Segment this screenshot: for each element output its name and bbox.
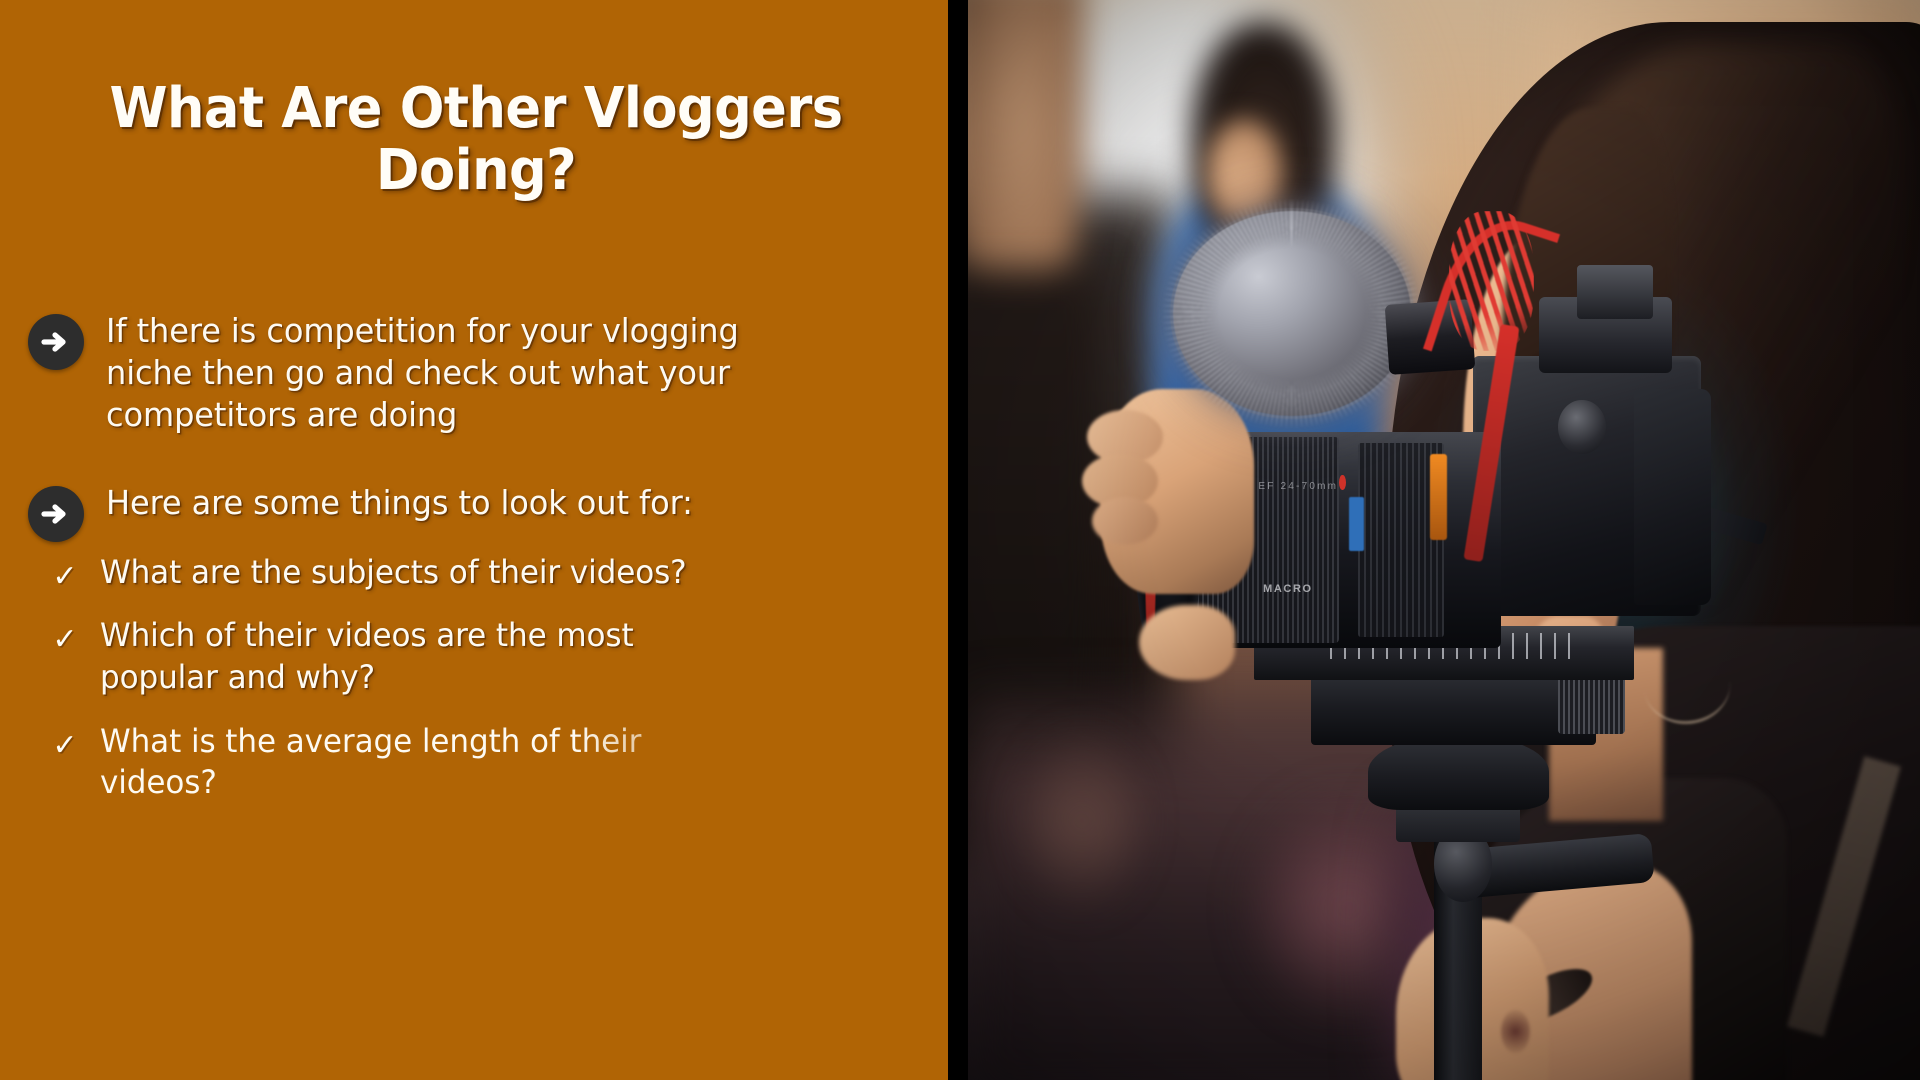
lens-mount-index-dot: [1339, 475, 1346, 490]
spacer: [0, 593, 908, 615]
spacer: [0, 446, 908, 482]
tripod-base-plate: [1311, 670, 1597, 746]
lens-orange-marking: [1430, 454, 1447, 540]
bullet-item: Here are some things to look out for:: [0, 482, 908, 542]
camera-grip: [1634, 389, 1710, 605]
tripod-head: [1368, 734, 1549, 810]
photo-bokeh-left: [1025, 734, 1139, 907]
check-icon: ✓: [48, 721, 82, 761]
checklist-text: What is the average length of their vide…: [100, 721, 760, 804]
bullet-text: If there is competition for your vloggin…: [106, 310, 785, 436]
arrow-right-circle-icon: [28, 314, 84, 370]
checklist-item: ✓ What are the subjects of their videos?: [0, 552, 908, 594]
checklist-text: What are the subjects of their videos?: [100, 552, 687, 594]
lens-focal-text: EF 24-70mm: [1258, 481, 1338, 492]
check-icon: ✓: [48, 615, 82, 655]
microphone-cable-coil: [1449, 211, 1535, 351]
lens-blue-marking: [1349, 497, 1364, 551]
panel-divider: [948, 0, 968, 1080]
arrow-right-circle-icon: [28, 486, 84, 542]
woman-tattoo: [1501, 1010, 1530, 1053]
lens-macro-text: MACRO: [1263, 583, 1313, 595]
checklist-item: ✓ Which of their videos are the most pop…: [0, 615, 908, 698]
page-title: What Are Other Vloggers Doing?: [81, 78, 871, 201]
page-title-line-2: Doing?: [376, 138, 576, 203]
spacer: [0, 699, 908, 721]
page-title-line-1: What Are Other Vloggers: [110, 76, 843, 141]
bullet-list: If there is competition for your vloggin…: [0, 310, 948, 804]
camera-viewfinder: [1577, 265, 1653, 319]
bullet-text: Here are some things to look out for:: [106, 482, 693, 524]
checklist-text: Which of their videos are the most popul…: [100, 615, 760, 698]
bullet-item: If there is competition for your vloggin…: [0, 310, 908, 436]
check-icon: ✓: [48, 552, 82, 592]
slide-photo: Canon MACRO EF 24-70mm: [968, 0, 1920, 1080]
slide-text-panel: What Are Other Vloggers Doing? If there …: [0, 0, 948, 1080]
camera-mode-dial: [1558, 400, 1606, 454]
checklist-item: ✓ What is the average length of their vi…: [0, 721, 908, 804]
microphone-fur-texture: [1161, 198, 1422, 429]
presentation-slide: What Are Other Vloggers Doing? If there …: [0, 0, 1920, 1080]
thumb: [1139, 605, 1234, 681]
